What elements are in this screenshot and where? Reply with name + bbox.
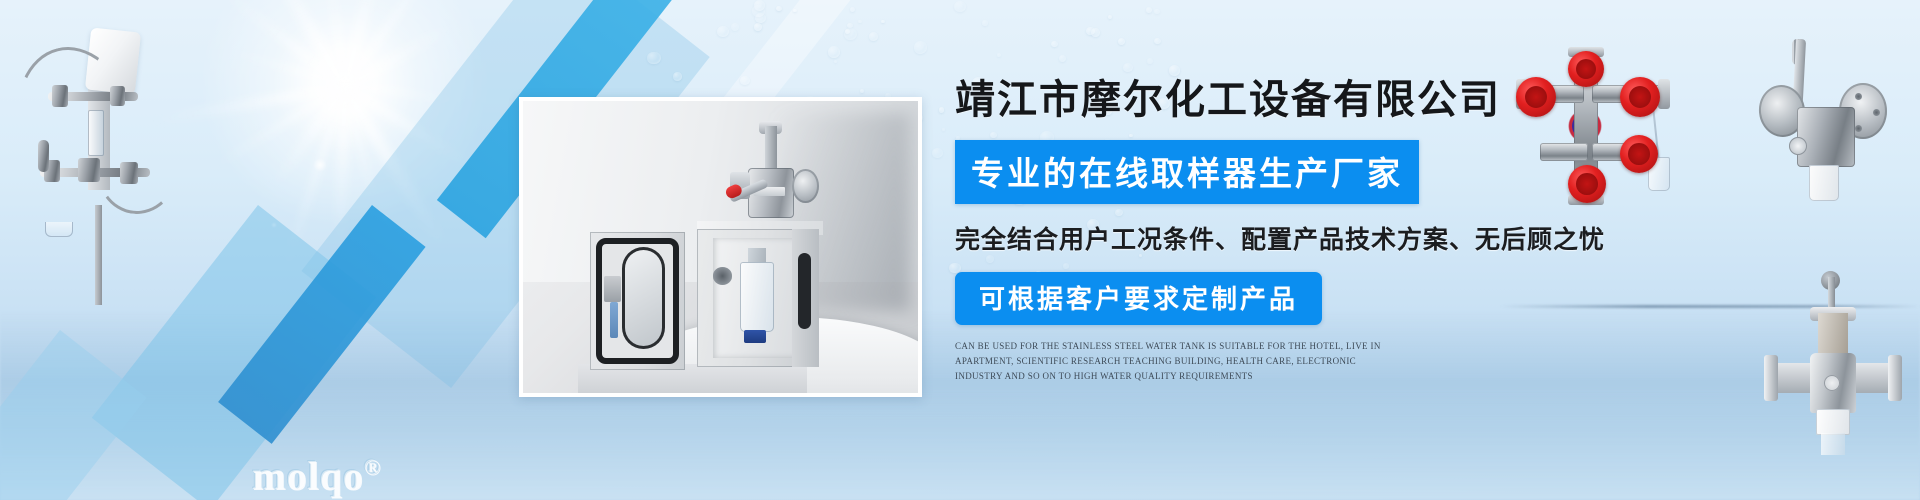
sun-ray — [339, 85, 453, 256]
custom-product-badge: 可根据客户要求定制产品 — [955, 272, 1322, 325]
valve-stem — [765, 126, 777, 172]
water-droplet — [740, 76, 750, 86]
sun-ray — [342, 20, 456, 92]
water-droplet — [754, 0, 765, 10]
water-droplet — [847, 23, 852, 28]
water-droplet — [1118, 38, 1126, 45]
enclosure-cover — [85, 28, 141, 95]
lens-flare-dot — [313, 158, 327, 172]
water-droplet — [914, 41, 928, 53]
water-droplet — [1108, 15, 1112, 19]
sun-flare-icon — [185, 0, 505, 242]
sample-bottle — [740, 262, 774, 332]
subline-text: 完全结合用户工况条件、配置产品技术方案、无后顾之忧 — [955, 220, 1675, 256]
water-droplet — [1086, 27, 1095, 35]
sun-ray — [345, 82, 465, 104]
water-droplet — [793, 9, 797, 12]
banner-text-block: 靖江市摩尔化工设备有限公司 专业的在线取样器生产厂家 完全结合用户工况条件、配置… — [955, 78, 1675, 384]
water-droplet — [673, 72, 683, 81]
sample-bottle-neck — [748, 248, 766, 263]
water-droplet — [1146, 7, 1152, 13]
gate-valve-flange-right — [1888, 355, 1902, 401]
flange-bolt — [1873, 109, 1880, 116]
lever-valve-sample-cup — [1809, 165, 1839, 201]
water-droplet — [1059, 55, 1066, 62]
water-droplet — [982, 20, 988, 25]
water-droplet — [717, 26, 729, 37]
water-droplet — [1051, 41, 1058, 47]
sun-ray — [216, 0, 348, 90]
watermark-text: molqo — [252, 453, 364, 498]
sun-ray — [281, 84, 348, 272]
water-droplet — [860, 89, 864, 93]
gate-valve-outlet-sleeve — [1816, 409, 1850, 435]
lever-valve-body — [1797, 107, 1855, 167]
product-banner: 靖江市摩尔化工设备有限公司 专业的在线取样器生产厂家 完全结合用户工况条件、配置… — [0, 0, 1920, 500]
center-product-photo — [519, 97, 922, 397]
water-droplet — [845, 29, 850, 34]
watermark-registered-mark: ® — [364, 455, 381, 480]
sun-ray — [339, 0, 390, 89]
pipe-lower — [40, 168, 150, 177]
water-droplet — [858, 20, 862, 24]
water-droplet — [942, 128, 946, 131]
water-droplet — [932, 148, 943, 158]
water-droplet — [1154, 38, 1161, 44]
watermark-logo: molqo® — [252, 452, 381, 499]
sun-ray — [269, 84, 350, 189]
water-droplet — [1147, 58, 1154, 64]
water-droplet — [1154, 9, 1160, 14]
right-gate-valve — [1758, 275, 1908, 460]
flex-hose-right — [91, 114, 185, 218]
sun-ray — [241, 0, 351, 92]
valve-hub-upper-left — [52, 85, 68, 107]
sun-ray — [343, 83, 481, 174]
product-stand-pole — [95, 205, 102, 305]
photo-sampling-valve — [728, 121, 819, 226]
sun-ray — [341, 85, 378, 204]
water-droplet — [755, 13, 766, 23]
flange-bolt — [1855, 125, 1862, 132]
english-description: CAN BE USED FOR THE STAINLESS STEEL WATE… — [955, 339, 1391, 384]
gate-valve-bonnet — [1818, 313, 1848, 357]
water-droplet — [834, 60, 838, 63]
water-droplet — [850, 7, 855, 12]
flange-bolt — [1855, 93, 1862, 100]
water-droplet — [1169, 65, 1181, 76]
sun-ray — [324, 0, 349, 87]
sun-ray — [333, 88, 351, 246]
mounting-plate — [88, 70, 110, 190]
sun-ray — [226, 48, 346, 87]
lens-flare-dot — [381, 214, 389, 222]
water-droplet — [881, 20, 885, 23]
water-droplet — [776, 6, 782, 11]
sun-ray — [209, 82, 347, 171]
cabinet-port-hole — [713, 267, 733, 285]
valve-hub-lower-left — [44, 160, 60, 182]
pipe-upper — [48, 92, 138, 101]
valve-hub-lower-mid — [78, 158, 100, 182]
sample-beaker — [45, 222, 73, 237]
water-droplet — [1091, 28, 1101, 37]
gate-valve-flange-left — [1764, 355, 1778, 401]
water-droplet — [828, 46, 841, 58]
valve-hub-upper-right — [110, 86, 125, 106]
lever-valve-badge — [1789, 137, 1807, 155]
water-droplet — [954, 1, 966, 12]
water-droplet — [754, 23, 762, 30]
sun-ray — [151, 82, 346, 126]
door-key — [610, 302, 618, 337]
water-droplet — [869, 32, 879, 41]
diagonal-stripe-blue-2 — [218, 205, 426, 444]
gate-valve-outlet-tip — [1821, 433, 1845, 455]
lens-flare-dot — [271, 222, 277, 228]
water-droplet — [844, 28, 857, 40]
relief-valve — [38, 140, 49, 172]
flex-hose-left — [1, 34, 151, 213]
water-droplet — [731, 23, 739, 31]
tagline-badge: 专业的在线取样器生产厂家 — [955, 140, 1419, 204]
water-droplet — [752, 5, 765, 17]
diagonal-stripe-light-3 — [0, 330, 147, 500]
left-product-sampler — [0, 0, 220, 320]
valve-flange-right — [792, 169, 819, 204]
water-droplet — [1123, 63, 1133, 72]
water-droplet — [997, 53, 1001, 57]
sample-bottle-cap — [744, 330, 766, 343]
door-lock — [604, 276, 621, 302]
water-droplet — [647, 52, 660, 64]
right-lever-sampling-valve — [1735, 25, 1910, 220]
door-window — [622, 247, 665, 349]
valve-hub-lower-right — [120, 162, 138, 184]
company-name: 靖江市摩尔化工设备有限公司 — [955, 78, 1675, 122]
sight-glass — [88, 110, 104, 156]
gate-valve-badge — [1824, 375, 1840, 391]
water-droplet — [939, 107, 945, 112]
cabinet-handle — [798, 253, 811, 329]
sun-ray — [342, 0, 464, 88]
